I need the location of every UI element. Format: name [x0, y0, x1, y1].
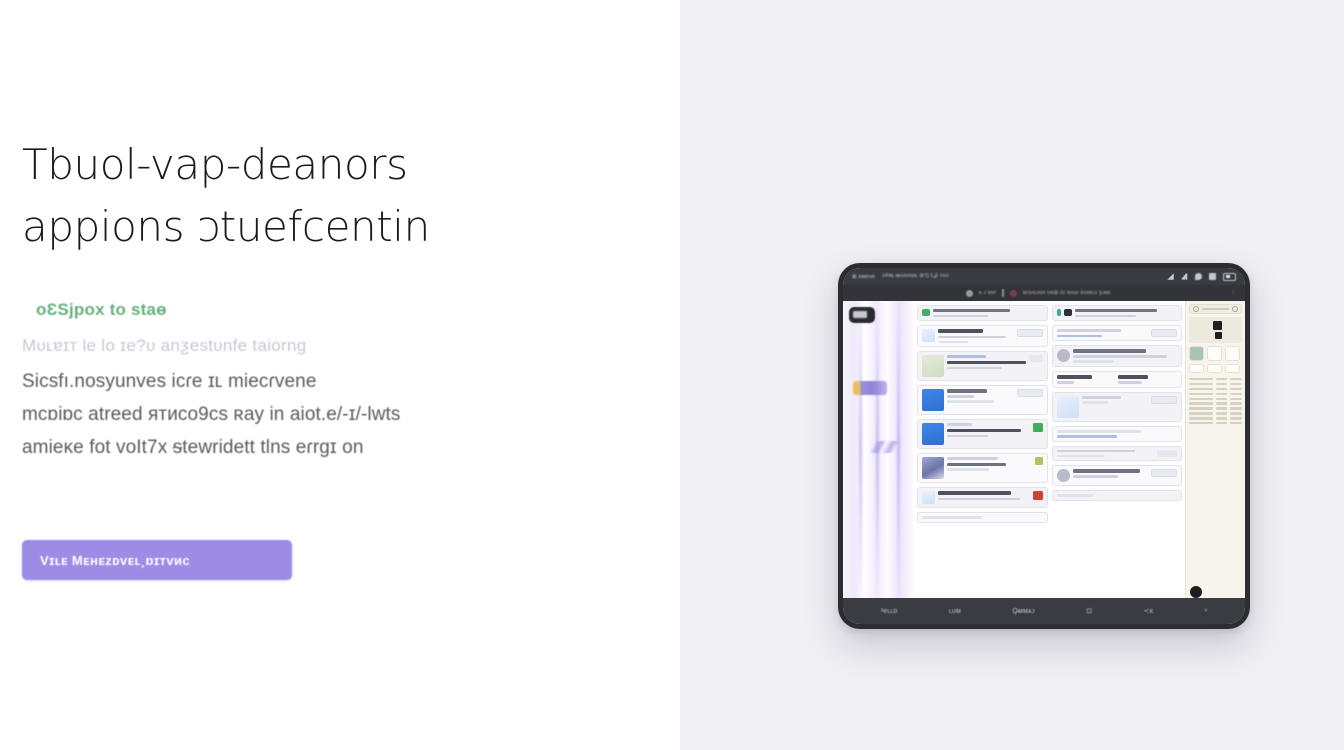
device-screen: ⊞ ᴅᴍᴅᴠᴅ ᴐ⌾ʀᴌ.ᴍᴀʌvᴏᴏᴌ ⊘⁊) Ⅼʝi ᴛᴀɾı ᴋ ᴊ ɐʀ…: [843, 268, 1245, 624]
card-title-line: [938, 329, 983, 333]
card-body-line: [947, 395, 974, 398]
eyebrow-label: oƐSjpox to staɵ: [36, 300, 642, 320]
card-lines: [1057, 494, 1178, 497]
status-badge: [1057, 309, 1061, 316]
wrench-icon[interactable]: [1189, 346, 1204, 361]
status-badge: [922, 309, 930, 316]
more-icon[interactable]: ⋮: [1230, 290, 1236, 296]
chevron-down-icon[interactable]: [1232, 306, 1238, 312]
avatar: [1057, 349, 1070, 362]
page-root: Tbuol-vap-deanors appions ɔtuefcentin oƐ…: [0, 0, 1344, 750]
thumbnail: [1057, 396, 1079, 418]
status-bar-center-text: ᴐ⌾ʀᴌ.ᴍᴀʌvᴏᴏᴌ ⊘⁊) Ⅼʝi ᴛᴀɾı: [882, 273, 949, 280]
card-title-line: [1057, 329, 1121, 332]
bars-icon: [1181, 273, 1188, 280]
card-title-line: [933, 309, 1010, 312]
card-title-line: [947, 463, 1006, 466]
device-status-bar: ⊞ ᴅᴍᴅᴠᴅ ᴐ⌾ʀᴌ.ᴍᴀʌvᴏᴏᴌ ⊘⁊) Ⅼʝi ᴛᴀɾı: [843, 268, 1245, 285]
column-one-footer: [917, 512, 1048, 523]
signal-icon: [1167, 273, 1174, 280]
nav-share[interactable]: ≺ᴋ: [1144, 607, 1154, 615]
card-lines: [1073, 349, 1178, 363]
card-lines: [938, 491, 1030, 504]
card-lines: [1057, 430, 1178, 438]
card-body-line: [938, 498, 1020, 501]
divider-icon: [1002, 289, 1004, 297]
card-lines: [947, 355, 1026, 377]
list-item[interactable]: [917, 305, 1048, 321]
device-showcase-panel: ⊞ ᴅᴍᴅᴠᴅ ᴐ⌾ʀᴌ.ᴍᴀʌvᴏᴏᴌ ⊘⁊) Ⅼʝi ᴛᴀɾı ᴋ ᴊ ɐʀ…: [680, 0, 1344, 750]
card-action-button[interactable]: [1151, 396, 1177, 404]
thumbnail: [922, 491, 935, 504]
list-item[interactable]: [917, 487, 1048, 508]
card-badge: [1157, 450, 1177, 457]
sidebar-icon-row: [1189, 346, 1242, 361]
card-body-line: [1073, 355, 1167, 358]
body-paragraph: Sicsfı.nosyunves icɾe ɪʟ miecɾvene mcɒiɒ…: [22, 365, 642, 464]
card-tag-line: [947, 355, 986, 358]
card-meta-line: [1057, 381, 1075, 384]
color-swatch: [1033, 491, 1043, 500]
card-action-button[interactable]: [1017, 389, 1043, 397]
card-action-button[interactable]: [1151, 469, 1177, 477]
card-lines: [947, 423, 1030, 445]
card-body-line: [1082, 396, 1122, 399]
page-title: Tbuol-vap-deanors appions ɔtuefcentin: [22, 134, 642, 258]
card-title-line: [1118, 375, 1147, 379]
footer-line: [1057, 494, 1093, 497]
thumbnail: [922, 423, 944, 445]
cursor-icon[interactable]: [1189, 364, 1204, 373]
card-action-button[interactable]: [1151, 329, 1177, 337]
pen-icon[interactable]: [1207, 364, 1222, 373]
card-meta-line: [938, 341, 968, 344]
list-item[interactable]: [1052, 345, 1183, 367]
card-body-line: [1073, 475, 1118, 478]
sidebar-header-label: [1202, 308, 1229, 310]
card-title-line: [947, 361, 1026, 365]
card-lines: [938, 329, 1014, 343]
table-row[interactable]: [1189, 398, 1242, 400]
nav-more[interactable]: ᵛ: [1205, 608, 1207, 615]
face-icon[interactable]: [1207, 346, 1222, 361]
card-lines: [947, 457, 1032, 479]
sidebar-preview-tile[interactable]: [1189, 317, 1242, 343]
card-lines: [1075, 309, 1178, 317]
content-column-two: [1052, 305, 1183, 598]
card-body-line: [1057, 450, 1135, 453]
sidebar-header[interactable]: [1189, 304, 1242, 314]
card-meta-line: [1075, 315, 1137, 318]
image-icon: [1215, 332, 1222, 339]
rail-app-chip[interactable]: [849, 307, 875, 323]
table-row[interactable]: [1189, 412, 1242, 414]
card-lines: [1082, 396, 1149, 418]
status-badge: [1064, 309, 1072, 316]
list-item[interactable]: [1052, 446, 1183, 462]
table-row[interactable]: [1189, 383, 1242, 385]
nav-apps[interactable]: ⊡: [1086, 607, 1092, 615]
table-row[interactable]: [1189, 393, 1242, 395]
card-body-line: [1057, 335, 1103, 338]
card-meta-line: [1118, 381, 1142, 384]
list-item[interactable]: [1052, 305, 1183, 321]
card-lines: [947, 389, 1014, 411]
card-meta-line: [1073, 360, 1115, 363]
app-left-rail: [843, 301, 915, 598]
more-icon[interactable]: [1225, 346, 1240, 361]
rail-accent-blob: [853, 381, 887, 395]
column-two-footer: [1052, 490, 1183, 501]
color-swatch: [1033, 423, 1043, 432]
table-row[interactable]: [1189, 388, 1242, 390]
device-bottom-nav: ˢɐʟʟᴅ ʟᴜᴍ Ǫ̶ᴍᴍᴀᴊ ⊡ ≺ᴋ ᵛ: [843, 598, 1245, 624]
table-row[interactable]: [1189, 417, 1242, 419]
card-lines: [1057, 450, 1155, 458]
primary-cta-button[interactable]: Vɪʟᴇ Mᴇʜᴇᴢᴅᴠᴇʟ¸ɒɪтᴠиc: [22, 540, 292, 580]
card-title-line: [1073, 349, 1146, 352]
list-item[interactable]: [1052, 465, 1183, 486]
card-tag-line: [947, 423, 972, 426]
card-title-line: [938, 491, 1011, 495]
card-badge: [1029, 355, 1043, 362]
card-meta-line: [1082, 401, 1109, 404]
card-title-line: [1075, 309, 1157, 312]
nav-home[interactable]: ʟᴜᴍ: [949, 608, 961, 615]
card-action-button[interactable]: [1017, 329, 1043, 337]
card-title-line: [1073, 469, 1141, 472]
card-meta-line: [947, 400, 994, 403]
table-row[interactable]: [1189, 407, 1242, 409]
table-row[interactable]: [1189, 422, 1242, 424]
document-icon: [1213, 321, 1222, 330]
card-lines: [1118, 375, 1177, 384]
list-item[interactable]: [917, 325, 1048, 347]
card-lines: [1057, 329, 1149, 337]
nav-back[interactable]: ˢɐʟʟᴅ: [881, 608, 898, 615]
card-body-line: [938, 336, 1006, 339]
card-body-line: [1057, 430, 1141, 433]
muted-subtitle: Мᴜʟɐɪт le lo ɪe?ᴜ anƺestᴜnfe taiorng: [22, 336, 642, 356]
browser-bar-left-text: ᴋ ᴊ ɐʀғ: [979, 290, 997, 296]
list-item[interactable]: [1052, 426, 1183, 442]
card-lines: [1073, 469, 1149, 482]
hero-left-panel: Tbuol-vap-deanors appions ɔtuefcentin oƐ…: [0, 0, 680, 750]
list-item[interactable]: [917, 385, 1048, 415]
table-row[interactable]: [1189, 378, 1242, 380]
card-lines: [933, 309, 1043, 317]
nav-search[interactable]: Ǫ̶ᴍᴍᴀᴊ: [1012, 608, 1035, 615]
app-viewport: [843, 301, 1245, 598]
card-meta-line: [933, 315, 988, 318]
card-title-line: [1057, 375, 1092, 379]
card-lines: [1057, 375, 1116, 384]
card-meta-line: [947, 435, 988, 438]
battery-icon: [1223, 273, 1236, 281]
card-meta-line: [947, 468, 989, 471]
list-item[interactable]: [1052, 371, 1183, 388]
footer-line: [922, 516, 982, 519]
thumbnail: [922, 329, 935, 342]
thumbnail: [922, 457, 944, 479]
card-link-line[interactable]: [1057, 435, 1117, 438]
headphones-icon[interactable]: [1190, 586, 1202, 598]
rail-stripe-1: [859, 301, 862, 598]
hero-copy-block: Tbuol-vap-deanors appions ɔtuefcentin oƐ…: [22, 134, 642, 464]
thumbnail: [922, 389, 944, 411]
drop-icon: [1195, 273, 1202, 280]
device-browser-bar[interactable]: ᴋ ᴊ ɐʀғ ʀғsʜʟʜɪʜ ʜʀф ʎɪ ʀᴏɪʜ ʀᴀʀᴋʟɪ ʈʟᴍɒ…: [843, 285, 1245, 301]
card-title-line: [947, 429, 1021, 433]
app-right-sidebar: [1185, 301, 1245, 598]
list-item[interactable]: [1052, 392, 1183, 422]
card-title-line: [947, 389, 987, 392]
list-item[interactable]: [917, 351, 1048, 381]
card-body-line: [947, 367, 1002, 370]
sidebar-icon-row-secondary: [1189, 364, 1242, 373]
refresh-icon[interactable]: [1193, 306, 1199, 312]
status-bar-left-text: ⊞ ᴅᴍᴅᴠᴅ: [852, 274, 875, 280]
avatar: [1057, 469, 1070, 482]
wifi-icon: [1209, 273, 1216, 280]
card-lines: [922, 516, 1043, 519]
browser-bar-right-text: ʀғsʜʟʜɪʜ ʜʀф ʎɪ ʀᴏɪʜ ʀᴀʀᴋʟɪ ʈʟᴍɒ: [1023, 290, 1111, 296]
table-row[interactable]: [1189, 402, 1242, 404]
tablet-device-mockup: ⊞ ᴅᴍᴅᴠᴅ ᴐ⌾ʀᴌ.ᴍᴀʌvᴏᴏᴌ ⊘⁊) Ⅼʝi ᴛᴀɾı ᴋ ᴊ ɐʀ…: [838, 263, 1250, 629]
app-content-columns: [915, 301, 1185, 598]
record-icon[interactable]: [1010, 290, 1017, 297]
rail-scrawl-icon: [871, 441, 901, 453]
shape-icon[interactable]: [1225, 364, 1240, 373]
thumbnail: [922, 355, 944, 377]
list-item[interactable]: [917, 453, 1048, 483]
content-column-one: [917, 305, 1048, 598]
card-tag-line: [947, 457, 998, 460]
globe-icon[interactable]: [966, 290, 973, 297]
sidebar-data-rows: [1189, 378, 1242, 424]
card-meta-line: [1057, 455, 1106, 458]
list-item[interactable]: [1052, 325, 1183, 341]
list-item[interactable]: [917, 419, 1048, 449]
color-swatch: [1035, 457, 1043, 465]
